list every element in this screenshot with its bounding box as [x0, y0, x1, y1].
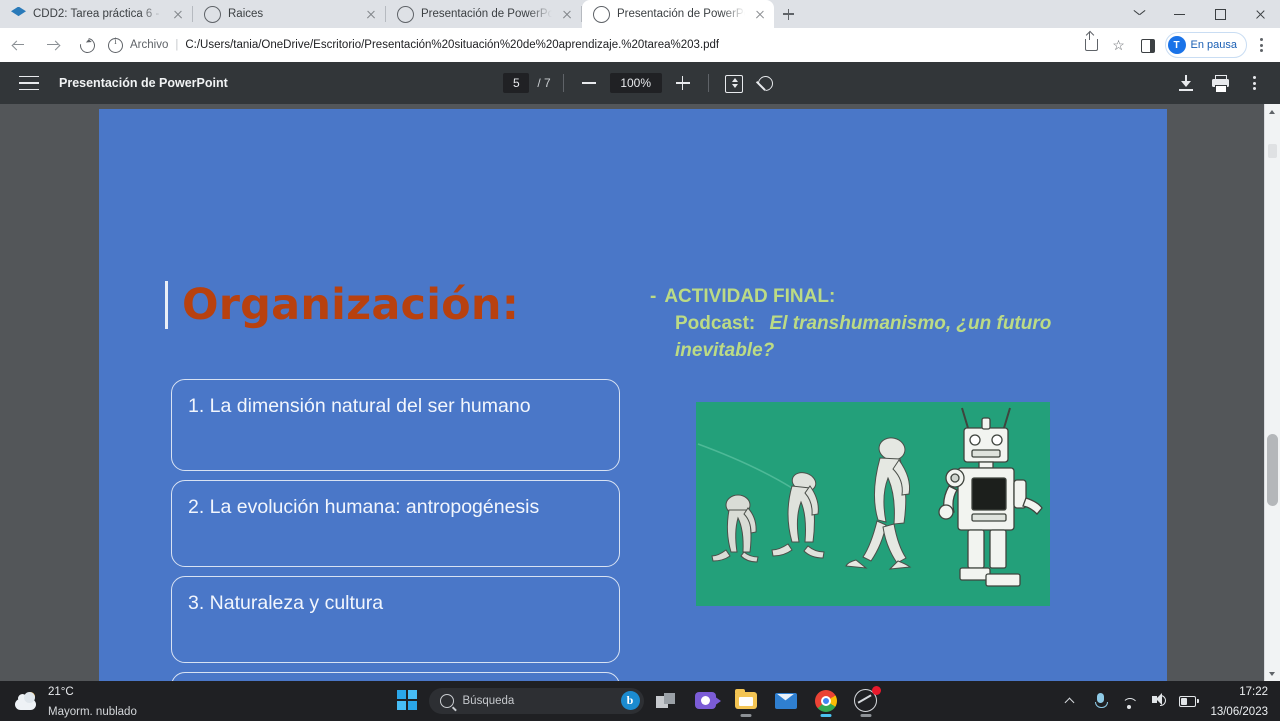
list-item: 1. La dimensión natural del ser humano — [171, 379, 620, 471]
search-input[interactable]: Búsqueda b — [429, 688, 644, 714]
fit-to-page-icon[interactable] — [721, 71, 745, 95]
address-bar[interactable]: Archivo | C:/Users/tania/OneDrive/Escrit… — [106, 33, 1070, 57]
rotate-icon[interactable] — [753, 71, 777, 95]
page-title: Organización: — [182, 281, 519, 329]
clock-date: 13/06/2023 — [1210, 706, 1268, 718]
browser-tab-4-active[interactable]: Presentación de PowerPoint — [582, 0, 774, 28]
maximize-button[interactable] — [1200, 0, 1240, 28]
profile-chip[interactable]: T En pausa — [1165, 32, 1247, 58]
zoom-level-label[interactable]: 100% — [610, 73, 662, 93]
task-view-button[interactable] — [648, 684, 684, 718]
browser-tab-strip: CDD2: Tarea práctica 6 - Nivel A... Raic… — [0, 0, 1280, 28]
profile-status-label: En pausa — [1191, 39, 1237, 51]
new-tab-button[interactable] — [774, 0, 802, 28]
list-item: 3. Naturaleza y cultura — [171, 576, 620, 663]
tab-favicon-moodle — [11, 7, 26, 22]
minimize-button[interactable] — [1160, 0, 1200, 28]
address-url-text: C:/Users/tania/OneDrive/Escritorio/Prese… — [185, 39, 719, 51]
taskbar-app-chrome[interactable] — [808, 684, 844, 718]
outline-box-list: 1. La dimensión natural del ser humano 2… — [171, 379, 620, 681]
list-item: 2. La evolución humana: antropogénesis — [171, 480, 620, 567]
omnibox-actions: ☆ T En pausa — [1078, 32, 1280, 58]
zoom-in-button[interactable] — [670, 71, 696, 95]
scroll-down-arrow-icon[interactable] — [1265, 666, 1280, 681]
pdf-more-options-icon[interactable] — [1242, 70, 1266, 96]
reload-button[interactable] — [72, 30, 102, 60]
clock-time: 17:22 — [1239, 686, 1268, 698]
tab-favicon-globe — [204, 6, 221, 23]
tab-close-icon[interactable] — [559, 6, 575, 22]
taskbar-app-teams[interactable] — [688, 684, 724, 718]
tab-close-icon[interactable] — [363, 6, 379, 22]
weather-widget[interactable]: 21°C Mayorm. nublado — [14, 681, 137, 721]
tab-search-chevron-down-icon[interactable] — [1120, 0, 1160, 28]
toolbar-divider — [708, 74, 709, 92]
start-button-icon[interactable] — [397, 690, 419, 712]
windows-taskbar: 21°C Mayorm. nublado Búsqueda b — [0, 681, 1280, 720]
battery-icon[interactable] — [1179, 692, 1196, 709]
tab-title: Presentación de PowerPoint — [421, 8, 552, 20]
tab-title: Raices — [228, 8, 356, 20]
address-separator: | — [175, 39, 178, 51]
tab-close-icon[interactable] — [170, 6, 186, 22]
pdf-viewer-toolbar: Presentación de PowerPoint 5 / 7 100% — [0, 62, 1280, 104]
pdf-toolbar-right — [1174, 70, 1280, 96]
desktop-screen: CDD2: Tarea práctica 6 - Nivel A... Raic… — [0, 0, 1280, 720]
browser-tab-2[interactable]: Raices — [193, 0, 385, 28]
taskbar-app-notification[interactable] — [848, 684, 884, 718]
tab-title: CDD2: Tarea práctica 6 - Nivel A... — [33, 8, 163, 20]
browser-tab-3[interactable]: Presentación de PowerPoint — [386, 0, 581, 28]
speaker-icon[interactable] — [1150, 692, 1167, 709]
side-panel-icon[interactable] — [1134, 32, 1160, 58]
tab-close-icon[interactable] — [752, 6, 768, 22]
page-total-label: / 7 — [537, 76, 550, 90]
taskbar-app-file-explorer[interactable] — [728, 684, 764, 718]
scrollbar-marker — [1268, 144, 1277, 158]
back-button[interactable] — [4, 30, 34, 60]
clock[interactable]: 17:22 13/06/2023 — [1210, 681, 1268, 720]
bookmark-star-icon[interactable]: ☆ — [1106, 32, 1132, 58]
slide-title-block: Organización: — [165, 281, 519, 329]
scroll-up-arrow-icon[interactable] — [1265, 104, 1280, 119]
tab-title: Presentación de PowerPoint — [617, 8, 745, 20]
show-hidden-icons-chevron-up-icon[interactable] — [1063, 692, 1080, 709]
taskbar-apps: Búsqueda b — [397, 684, 884, 718]
title-accent-bar — [165, 281, 168, 329]
microphone-icon[interactable] — [1092, 692, 1109, 709]
activity-block: - ACTIVIDAD FINAL: Podcast: El transhuma… — [650, 284, 1080, 365]
weather-temperature: 21°C — [48, 686, 74, 698]
wifi-icon[interactable] — [1121, 692, 1138, 709]
activity-bullet: - — [650, 284, 656, 311]
system-tray: 17:22 13/06/2023 — [1063, 681, 1280, 720]
evolution-image — [694, 400, 1052, 608]
site-info-icon[interactable] — [108, 38, 123, 53]
weather-description: Mayorm. nublado — [48, 706, 137, 718]
search-icon — [440, 694, 454, 708]
print-icon[interactable] — [1208, 71, 1232, 95]
presentation-slide: Organización: 1. La dimensión natural de… — [99, 109, 1167, 681]
avatar: T — [1168, 36, 1186, 54]
share-icon[interactable] — [1078, 32, 1104, 58]
forward-button[interactable] — [38, 30, 68, 60]
address-scheme-label: Archivo — [130, 39, 168, 51]
weather-text: 21°C Mayorm. nublado — [48, 681, 137, 721]
browser-toolbar: Archivo | C:/Users/tania/OneDrive/Escrit… — [0, 28, 1280, 62]
window-controls — [1120, 0, 1280, 28]
page-scrollbar[interactable] — [1264, 104, 1280, 681]
tab-favicon-globe — [593, 6, 610, 23]
pdf-document-title: Presentación de PowerPoint — [59, 76, 228, 90]
page-number-input[interactable]: 5 — [503, 73, 529, 93]
pdf-page-viewport[interactable]: Organización: 1. La dimensión natural de… — [0, 104, 1280, 681]
taskbar-app-mail[interactable] — [768, 684, 804, 718]
list-item: 4. Etnocentrismo y relativismo cultural — [171, 672, 620, 681]
activity-heading: ACTIVIDAD FINAL: — [664, 284, 835, 311]
podcast-label: Podcast: — [675, 313, 755, 334]
browser-menu-icon[interactable] — [1249, 32, 1273, 58]
sidebar-toggle-icon[interactable] — [19, 76, 39, 91]
partly-cloudy-icon — [14, 691, 40, 711]
search-placeholder: Búsqueda — [463, 695, 612, 707]
close-window-button[interactable] — [1240, 0, 1280, 28]
scrollbar-thumb[interactable] — [1267, 434, 1278, 506]
activity-heading-row: - ACTIVIDAD FINAL: — [650, 284, 1080, 311]
podcast-row: Podcast: El transhumanismo, ¿un futuro i… — [650, 311, 1080, 365]
toolbar-divider — [563, 74, 564, 92]
download-icon[interactable] — [1174, 71, 1198, 95]
tab-favicon-globe — [397, 6, 414, 23]
zoom-out-button[interactable] — [576, 71, 602, 95]
evolution-illustration-icon — [696, 402, 1050, 606]
bing-icon[interactable]: b — [621, 691, 640, 710]
browser-tab-1[interactable]: CDD2: Tarea práctica 6 - Nivel A... — [0, 0, 192, 28]
pdf-toolbar-center: 5 / 7 100% — [503, 71, 776, 95]
